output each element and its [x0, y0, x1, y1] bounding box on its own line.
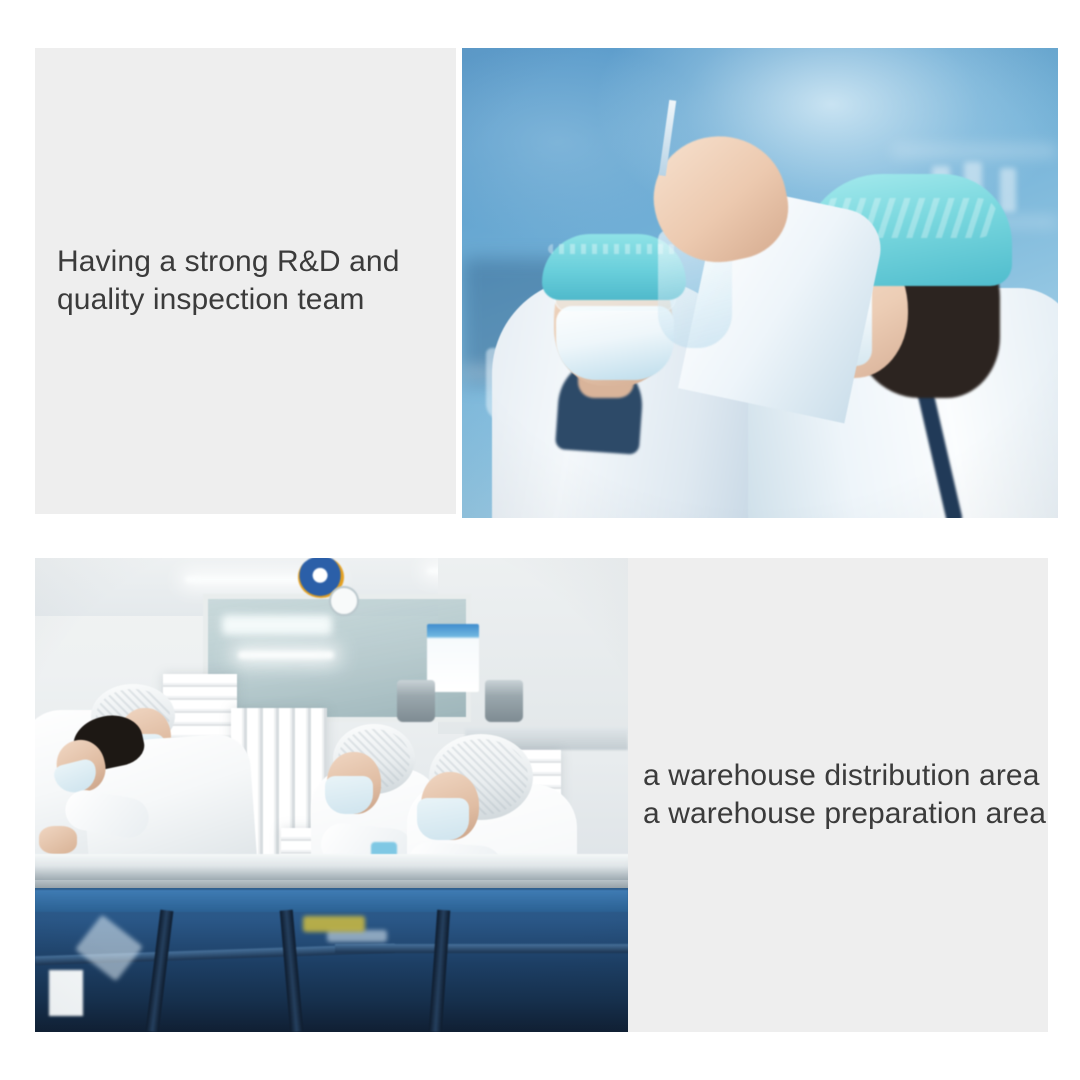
warehouse-window-light-reflection — [222, 615, 332, 635]
warehouse-shelf-bar-2 — [335, 944, 628, 953]
warehouse-caption-line-2: a warehouse preparation area — [643, 795, 1046, 833]
warehouse-caption-panel: a warehouse distribution area a warehous… — [628, 558, 1048, 1032]
warehouse-scene — [35, 558, 628, 1032]
lab-shelf-right-upper — [892, 144, 1058, 158]
rd-quality-caption-panel: Having a strong R&D and quality inspecti… — [35, 48, 456, 514]
warehouse-steel-pot-1 — [397, 680, 435, 722]
warehouse-blue-rail — [35, 890, 628, 912]
warehouse-caption: a warehouse distribution area a warehous… — [643, 757, 1046, 833]
packing-worker-4-mask — [417, 798, 469, 840]
rd-quality-caption-line-1: Having a strong R&D and — [57, 243, 399, 281]
lab-vial-c — [1000, 168, 1016, 212]
warehouse-steel-pot-2 — [485, 680, 523, 722]
lab-scene — [462, 48, 1058, 518]
warehouse-yellow-marker — [303, 916, 365, 932]
warehouse-wall-clock — [329, 586, 359, 616]
rd-quality-caption: Having a strong R&D and quality inspecti… — [57, 243, 399, 319]
poster-canvas: Having a strong R&D and quality inspecti… — [0, 0, 1080, 1080]
packing-worker-2-hand — [39, 826, 77, 854]
rd-quality-caption-line-2: quality inspection team — [57, 281, 399, 319]
lab-technician-left-face-mask — [556, 306, 674, 380]
warehouse-caption-line-1: a warehouse distribution area — [643, 757, 1046, 795]
warehouse-packing-photo — [35, 558, 628, 1032]
packing-worker-3-mask — [325, 776, 373, 814]
lab-rd-quality-inspection-photo — [462, 48, 1058, 518]
warehouse-loose-paper — [49, 970, 83, 1016]
warehouse-inner-light — [238, 651, 334, 659]
